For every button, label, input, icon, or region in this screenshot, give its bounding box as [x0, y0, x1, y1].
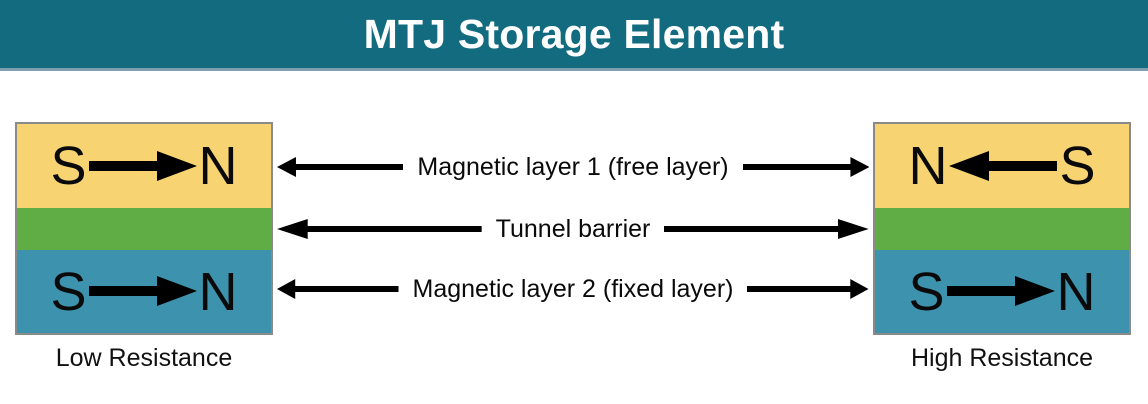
- right-fixed-layer-right-pole: N: [1057, 265, 1096, 319]
- left-arrow-icon: [277, 218, 482, 240]
- mtj-stack-low-resistance: S N S N: [15, 122, 273, 335]
- left-arrow-icon: [277, 156, 403, 178]
- callout-label-free-layer: Magnetic layer 1 (free layer): [403, 153, 742, 182]
- callout-row-fixed-layer: Magnetic layer 2 (fixed layer): [277, 272, 869, 306]
- callout-row-free-layer: Magnetic layer 1 (free layer): [277, 150, 869, 184]
- left-fixed-layer-right-pole: N: [199, 265, 238, 319]
- right-arrow-icon: [89, 274, 197, 313]
- left-fixed-layer: S N: [17, 250, 271, 333]
- right-free-layer-right-pole: S: [1059, 139, 1095, 193]
- callout-label-fixed-layer: Magnetic layer 2 (fixed layer): [399, 275, 748, 304]
- mtj-stack-high-resistance: N S S N: [873, 122, 1131, 335]
- left-free-layer: S N: [17, 124, 271, 208]
- caption-low-resistance: Low Resistance: [15, 344, 273, 373]
- left-arrow-icon: [949, 149, 1057, 188]
- caption-high-resistance: High Resistance: [873, 344, 1131, 373]
- right-arrow-icon: [664, 218, 869, 240]
- left-fixed-layer-left-pole: S: [50, 265, 86, 319]
- right-arrow-icon: [743, 156, 869, 178]
- right-free-layer-left-pole: N: [908, 139, 947, 193]
- right-arrow-icon: [89, 149, 197, 188]
- right-fixed-layer: S N: [875, 250, 1129, 333]
- right-free-layer: N S: [875, 124, 1129, 208]
- right-tunnel-barrier-layer: [875, 208, 1129, 250]
- right-fixed-layer-left-pole: S: [908, 265, 944, 319]
- left-free-layer-left-pole: S: [50, 139, 86, 193]
- left-arrow-icon: [277, 278, 399, 300]
- callout-label-tunnel-barrier: Tunnel barrier: [482, 215, 665, 244]
- callout-row-tunnel-barrier: Tunnel barrier: [277, 212, 869, 246]
- left-free-layer-right-pole: N: [199, 139, 238, 193]
- header-bar: MTJ Storage Element: [0, 0, 1148, 71]
- left-tunnel-barrier-layer: [17, 208, 271, 250]
- right-arrow-icon: [747, 278, 869, 300]
- page-title: MTJ Storage Element: [0, 0, 1148, 71]
- right-arrow-icon: [947, 274, 1055, 313]
